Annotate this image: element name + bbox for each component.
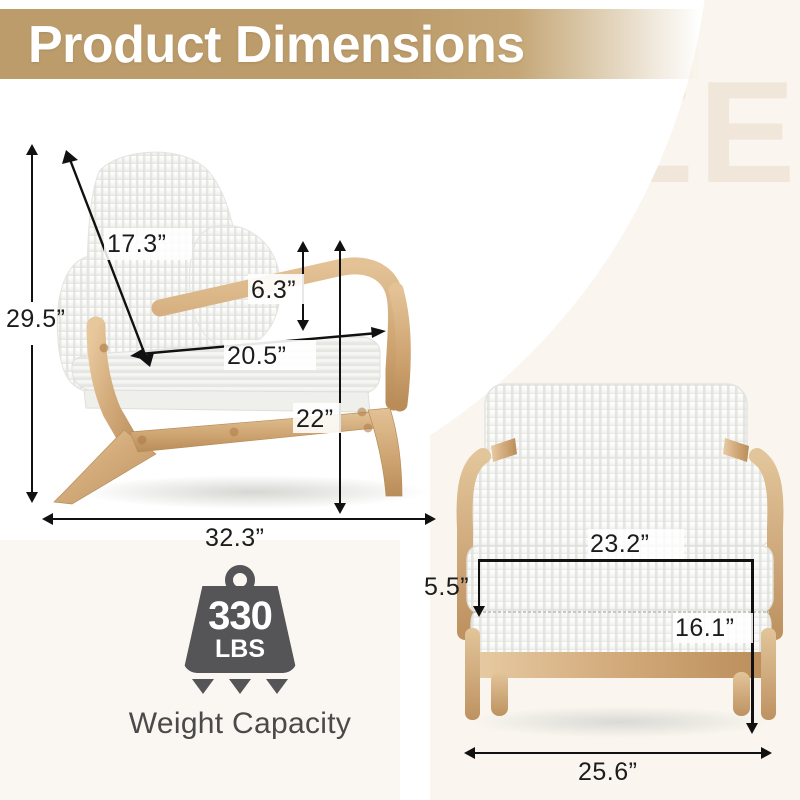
dim-label-seat-depth: 20.5”	[227, 342, 286, 371]
weight-unit: LBS	[177, 637, 303, 662]
dim-label-cushion-height: 5.5”	[424, 573, 469, 602]
dim-arrow-cushion-height	[473, 606, 485, 617]
dim-arrow-arm-height-top	[334, 240, 346, 251]
dim-arrow-overall-depth-left	[42, 513, 53, 525]
dim-label-overall-depth: 32.3”	[205, 524, 264, 553]
dim-arrow-overall-width-left	[464, 747, 475, 759]
weight-icon: 330 LBS	[177, 565, 303, 673]
dim-line-arm-height	[339, 248, 341, 506]
dim-line-overall-depth	[50, 518, 428, 520]
dim-line-cushion-height	[478, 559, 480, 609]
dim-label-seat-width: 23.2”	[590, 530, 649, 559]
dim-label-overall-width: 25.6”	[578, 758, 637, 787]
dim-line-overall-width	[472, 752, 764, 754]
dim-label-armrest-height: 6.3”	[251, 276, 296, 305]
page-title: Product Dimensions	[28, 10, 525, 80]
weight-arrows-row	[177, 679, 303, 699]
dim-arrow-seat-height	[746, 723, 758, 734]
dim-line-overall-height-upper	[31, 152, 33, 302]
weight-capacity-block: 330 LBS Weight Capacity	[120, 565, 360, 740]
down-triangle-icon-3	[266, 679, 288, 694]
dim-arrow-overall-height-bottom	[26, 492, 38, 503]
dim-arrow-arm-height-bottom	[334, 503, 346, 514]
down-triangle-icon-1	[192, 679, 214, 694]
dim-line-seat-width	[478, 559, 753, 562]
dim-line-seat-height	[751, 559, 754, 727]
dim-label-backrest-depth: 17.3”	[107, 230, 166, 259]
down-triangle-icon-2	[229, 679, 251, 694]
weight-number: 330	[177, 596, 303, 636]
dim-arrow-overall-depth-right	[425, 513, 436, 525]
infographic-canvas: SIZE Product Dimensions	[0, 0, 800, 800]
dim-label-overall-height: 29.5”	[6, 305, 65, 334]
dim-line-overall-height-lower	[31, 345, 33, 493]
dim-arrow-overall-width-right	[761, 747, 772, 759]
dim-label-seat-height: 16.1”	[675, 614, 734, 643]
weight-capacity-caption: Weight Capacity	[120, 707, 360, 741]
dim-arrow-overall-height-top	[26, 144, 38, 155]
dim-label-arm-height: 22”	[296, 405, 334, 434]
dim-arrow-armrest-top	[297, 241, 309, 252]
